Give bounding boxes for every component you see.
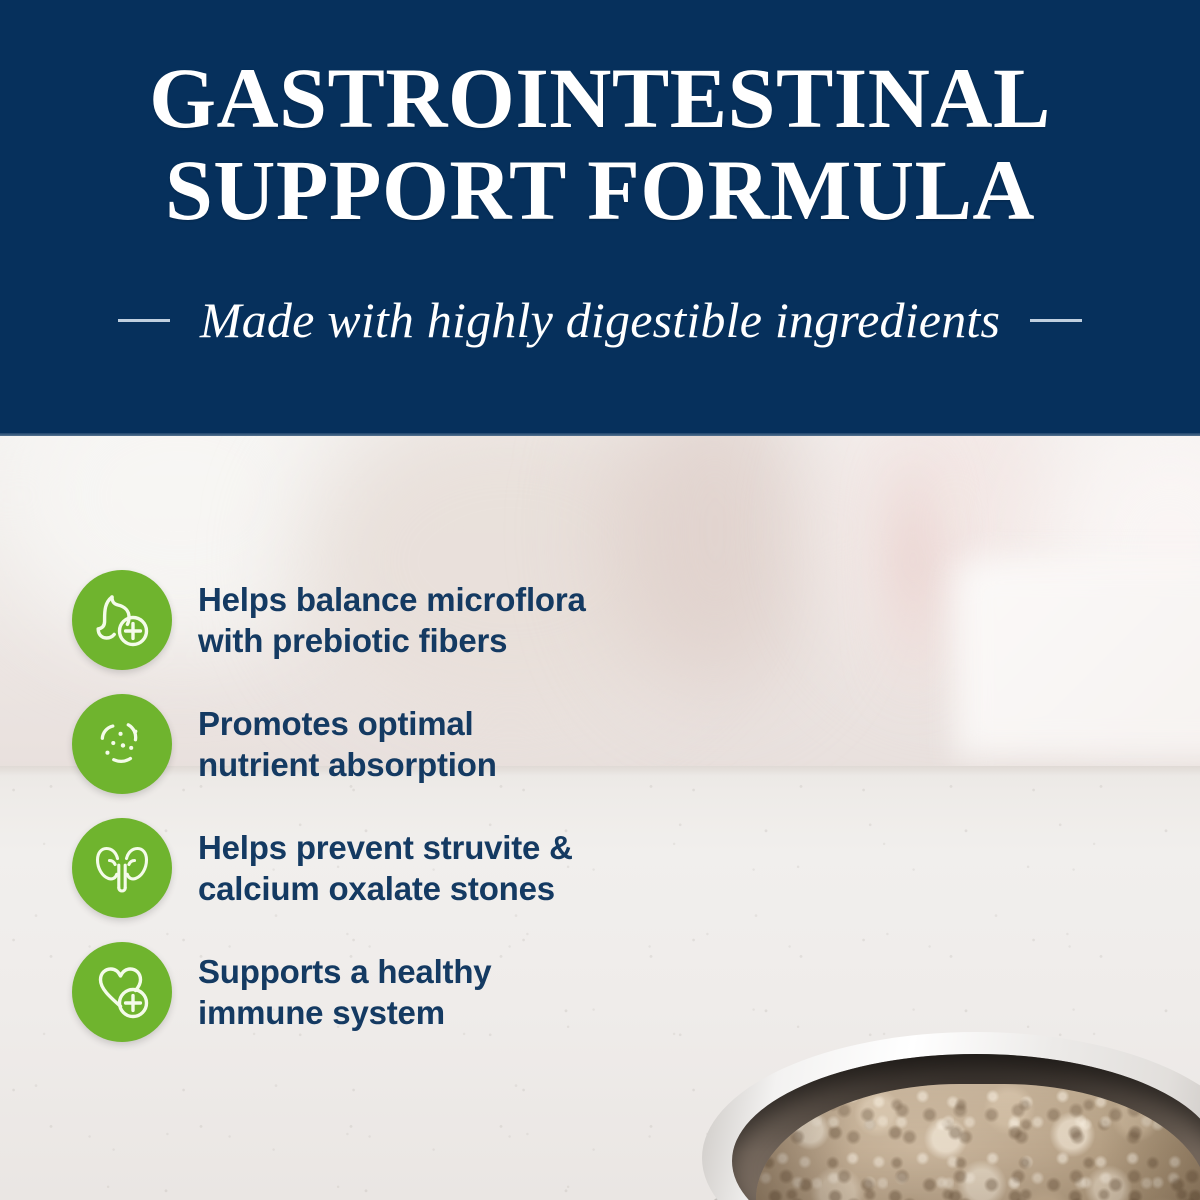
- benefit-label: Helps balance microflora with prebiotic …: [198, 579, 586, 661]
- page-title: GASTROINTESTINAL SUPPORT FORMULA: [0, 52, 1200, 236]
- benefit-item-nutrient-absorption: Promotes optimal nutrient absorption: [72, 682, 732, 806]
- page-title-line-1: GASTROINTESTINAL: [0, 52, 1200, 144]
- benefits-list: Helps balance microflora with prebiotic …: [72, 558, 732, 1054]
- benefit-label: Helps prevent struvite & calcium oxalate…: [198, 827, 573, 909]
- kidneys-icon: [72, 818, 172, 918]
- benefit-item-microflora: Helps balance microflora with prebiotic …: [72, 558, 732, 682]
- background-appliance: [955, 558, 1200, 758]
- benefit-item-immune-system: Supports a healthy immune system: [72, 930, 732, 1054]
- background-cabinet-edge: [886, 436, 940, 706]
- tagline-rule-left-icon: [118, 319, 170, 322]
- product-feature-panel: GASTROINTESTINAL SUPPORT FORMULA Made wi…: [0, 0, 1200, 1200]
- page-title-line-2: SUPPORT FORMULA: [0, 144, 1200, 236]
- tagline: Made with highly digestible ingredients: [200, 288, 1000, 352]
- header-banner: GASTROINTESTINAL SUPPORT FORMULA Made wi…: [0, 0, 1200, 436]
- benefit-label: Promotes optimal nutrient absorption: [198, 703, 497, 785]
- food-bowl: [696, 1032, 1200, 1200]
- benefit-label: Supports a healthy immune system: [198, 951, 491, 1033]
- heart-plus-icon: [72, 942, 172, 1042]
- tagline-group: Made with highly digestible ingredients: [0, 288, 1200, 352]
- benefit-item-urinary-stones: Helps prevent struvite & calcium oxalate…: [72, 806, 732, 930]
- microbiome-bacteria-icon: [72, 694, 172, 794]
- tagline-rule-right-icon: [1030, 319, 1082, 322]
- stomach-plus-icon: [72, 570, 172, 670]
